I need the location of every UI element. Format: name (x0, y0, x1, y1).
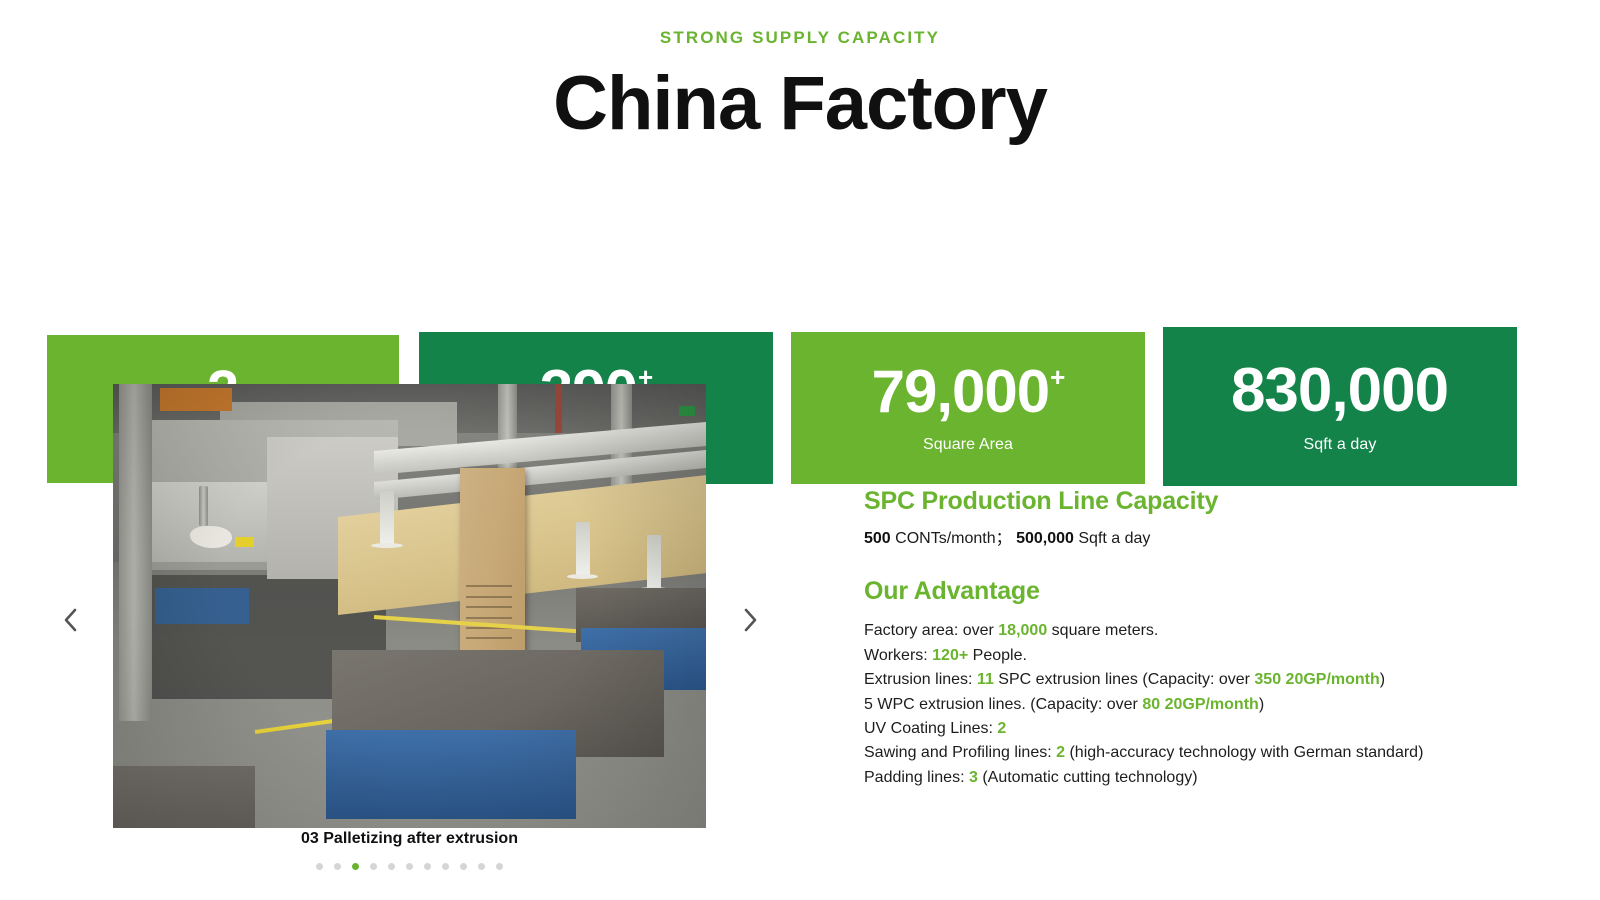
advantage-text: SPC extrusion lines (Capacity: over (994, 671, 1255, 688)
advantage-item: Factory area: over 18,000 square meters. (864, 619, 1504, 643)
capacity-sqft-value: 500,000 (1016, 530, 1074, 547)
advantage-highlight: 120+ (932, 647, 968, 664)
advantage-text: (Automatic cutting technology) (978, 769, 1198, 786)
carousel-dot-7[interactable] (424, 863, 431, 870)
carousel-dot-5[interactable] (388, 863, 395, 870)
advantage-text: ) (1259, 696, 1264, 713)
advantage-item: 5 WPC extrusion lines. (Capacity: over 8… (864, 693, 1504, 717)
advantage-highlight: 11 (977, 671, 994, 688)
advantage-highlight: 18,000 (998, 622, 1047, 639)
advantage-text: Sawing and Profiling lines: (864, 744, 1056, 761)
advantage-text: ) (1380, 671, 1385, 688)
advantage-text: Factory area: over (864, 622, 998, 639)
advantage-highlight: 80 20GP/month (1142, 696, 1258, 713)
advantage-item: Extrusion lines: 11 SPC extrusion lines … (864, 668, 1504, 692)
stat-card-sqft-a-day: 830,000 Sqft a day (1163, 327, 1517, 486)
carousel-dot-8[interactable] (442, 863, 449, 870)
carousel-dot-3[interactable] (352, 863, 359, 870)
advantage-text: Padding lines: (864, 769, 969, 786)
carousel-dot-2[interactable] (334, 863, 341, 870)
carousel-dot-4[interactable] (370, 863, 377, 870)
capacity-title: SPC Production Line Capacity (864, 487, 1504, 516)
advantage-text: Extrusion lines: (864, 671, 977, 688)
carousel-dot-9[interactable] (460, 863, 467, 870)
advantage-highlight: 2 (1056, 744, 1065, 761)
advantage-title: Our Advantage (864, 577, 1504, 606)
capacity-sqft-unit: Sqft a day (1074, 530, 1151, 547)
advantage-highlight: 350 20GP/month (1254, 671, 1379, 688)
advantage-list: Factory area: over 18,000 square meters.… (864, 619, 1504, 790)
section-eyebrow: Strong Supply Capacity (0, 28, 1600, 48)
advantage-item: Workers: 120+ People. (864, 644, 1504, 668)
stats-row: 2 Production Bases 390+ Workers 79,000+ … (0, 160, 1600, 335)
advantage-text: People. (968, 647, 1027, 664)
carousel-dots (113, 863, 706, 870)
page-title: China Factory (0, 62, 1600, 146)
capacity-info-panel: SPC Production Line Capacity 500 CONTs/m… (864, 487, 1504, 790)
advantage-text: Workers: (864, 647, 932, 664)
carousel-dot-6[interactable] (406, 863, 413, 870)
chevron-left-icon[interactable] (50, 600, 90, 640)
china-factory-section: Strong Supply Capacity China Factory 2 P… (0, 0, 1600, 900)
carousel-dot-10[interactable] (478, 863, 485, 870)
stat-label: Square Area (923, 436, 1013, 454)
advantage-highlight: 2 (997, 720, 1006, 737)
factory-carousel: 03 Palletizing after extrusion (0, 380, 790, 890)
stat-value: 79,000+ (872, 362, 1065, 422)
photo-caption: 03 Palletizing after extrusion (113, 830, 706, 848)
capacity-line: 500 CONTs/month； 500,000 Sqft a day (864, 528, 1504, 550)
stat-label: Sqft a day (1303, 436, 1376, 454)
advantage-item: Padding lines: 3 (Automatic cutting tech… (864, 766, 1504, 790)
stat-card-square-area: 79,000+ Square Area (791, 332, 1145, 484)
advantage-item: UV Coating Lines: 2 (864, 717, 1504, 741)
capacity-conts-value: 500 (864, 530, 891, 547)
advantage-text: UV Coating Lines: (864, 720, 997, 737)
advantage-text: 5 WPC extrusion lines. (Capacity: over (864, 696, 1142, 713)
factory-photo-image (113, 384, 706, 828)
stat-value: 830,000 (1231, 360, 1449, 422)
plus-sign: + (1050, 364, 1064, 390)
carousel-dot-1[interactable] (316, 863, 323, 870)
advantage-highlight: 3 (969, 769, 978, 786)
advantage-text: (high-accuracy technology with German st… (1065, 744, 1423, 761)
advantage-text: square meters. (1047, 622, 1158, 639)
carousel-dot-11[interactable] (496, 863, 503, 870)
chevron-right-icon[interactable] (730, 600, 770, 640)
capacity-conts-unit: CONTs/month； (891, 530, 1016, 547)
factory-photo[interactable] (113, 384, 706, 828)
advantage-item: Sawing and Profiling lines: 2 (high-accu… (864, 741, 1504, 765)
